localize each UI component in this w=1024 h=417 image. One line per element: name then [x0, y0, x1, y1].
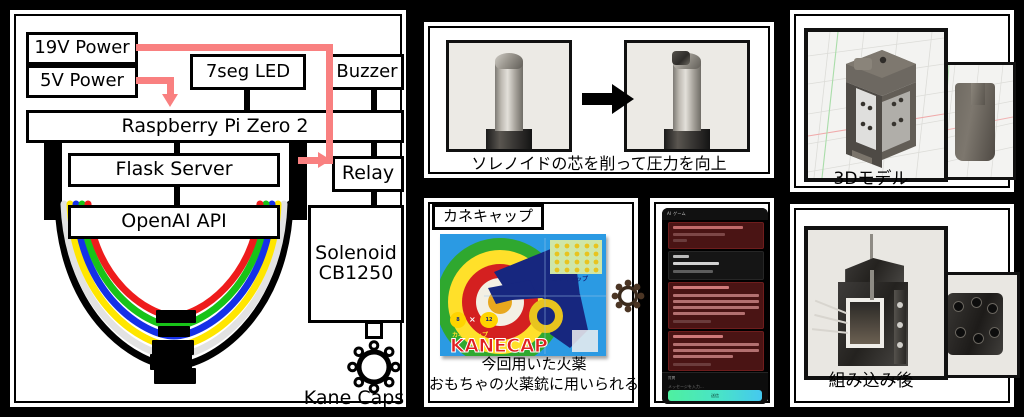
cad-cylinder-notch: [971, 83, 985, 105]
right-arrow-icon: [582, 84, 634, 114]
assembled-screw-2: [897, 322, 903, 328]
block-raspberry-pi[interactable]: Raspberry Pi Zero 2: [26, 110, 404, 143]
cad-inset-cylinder: [938, 62, 1016, 180]
kanecap-count-a: 8: [450, 312, 466, 328]
chat-input-label: 質問: [668, 376, 675, 381]
panel-block-diagram: 19V Power 5V Power 7seg LED Buzzer Raspb…: [6, 6, 410, 411]
revolver-hole-1: [953, 301, 964, 312]
figure-root: 19V Power 5V Power 7seg LED Buzzer Raspb…: [0, 0, 1024, 417]
power-arrow-to-relay: [318, 152, 331, 168]
panel-3d-model: 3Dモデル: [786, 6, 1018, 196]
block-19v-power[interactable]: 19V Power: [26, 32, 138, 65]
photo-assembled-solenoid: [804, 226, 948, 380]
power-line-19v-h: [136, 44, 333, 51]
assembled-caption: 組み込み後: [796, 372, 946, 391]
rod-shaft-before: [495, 63, 523, 131]
revolver-hole-2: [971, 297, 982, 308]
block-flask-server[interactable]: Flask Server: [68, 153, 280, 187]
rod-tip-ground-face: [672, 51, 690, 65]
chat-message-user-1: [668, 251, 764, 280]
kanecap-caption-line1: 今回用いた火薬: [430, 356, 638, 373]
chat-send-button-label: 送信: [668, 393, 762, 399]
assembled-inner-rod: [870, 270, 874, 300]
cad-main-frame: [804, 28, 948, 182]
photo-cap-ring: [610, 276, 646, 316]
block-relay[interactable]: Relay: [332, 156, 404, 192]
kanecap-count-times: ×: [469, 315, 476, 324]
wire-solenoid-to-caps: [365, 321, 383, 339]
kanecap-badge: カネキャップ: [432, 204, 544, 230]
power-arrow-to-rpi: [162, 94, 178, 107]
block-7seg-led[interactable]: 7seg LED: [190, 54, 306, 90]
block-buzzer[interactable]: Buzzer: [330, 54, 404, 90]
photo-solenoid-before: [446, 40, 572, 152]
kanecap-caps-grid-dots: [550, 240, 602, 274]
chat-send-button[interactable]: 送信: [668, 390, 762, 401]
block-5v-power[interactable]: 5V Power: [26, 65, 138, 98]
assembled-screw-3: [897, 342, 903, 348]
revolver-hole-5: [973, 333, 984, 344]
rod-shaft-after: [673, 63, 701, 131]
revolver-hole-4: [955, 327, 966, 338]
panel-chat-ui: AI ゲーム: [646, 194, 778, 411]
solenoid-line-1: Solenoid: [315, 244, 397, 264]
solenoid-modification-caption: ソレノイドの芯を削って圧力を向上: [434, 155, 764, 173]
kane-caps-label: Kane Caps: [298, 388, 410, 409]
panel-solenoid-modification: ソレノイドの芯を削って圧力を向上: [420, 18, 778, 182]
chat-header-title: AI ゲーム: [667, 211, 686, 217]
revolver-hole-3: [987, 303, 998, 314]
assembled-screw-1: [897, 302, 903, 308]
kanecap-brand-text: KANECAP: [450, 335, 547, 356]
revolver-hole-6: [989, 327, 1000, 338]
solenoid-line-2: CB1250: [319, 264, 394, 284]
kane-caps-icon: [340, 340, 408, 394]
kanecap-caption-line2: おもちゃの火薬銃に用いられる: [426, 376, 642, 393]
assembled-coil: [850, 302, 880, 344]
photo-revolver-cylinder: [936, 272, 1020, 378]
model3d-caption: 3Dモデル: [796, 170, 946, 189]
rod-base-before: [486, 129, 532, 149]
block-openai-api[interactable]: OpenAI API: [68, 205, 280, 239]
photo-solenoid-after: [624, 40, 750, 152]
chat-message-assistant-2: [668, 282, 764, 329]
cad-frame-part: [826, 42, 932, 170]
power-line-19v-v: [326, 44, 333, 164]
rod-base-after: [664, 129, 710, 149]
block-solenoid[interactable]: Solenoid CB1250: [308, 205, 404, 323]
chat-message-assistant-3: [668, 331, 764, 371]
chat-message-assistant-1: [668, 222, 764, 249]
kanecap-product-box: カネキャップ 8 × 12 カネキャップ KANECAP: [440, 234, 606, 356]
chat-phone-screen[interactable]: AI ゲーム: [662, 208, 768, 404]
rod-tip-before: [495, 53, 523, 69]
kanecap-count-b: 12: [480, 312, 498, 328]
panel-assembled: 組み込み後: [786, 200, 1018, 411]
panel-kanecap: カネキャップ: [420, 194, 642, 411]
kanecap-grid-label: カネキャップ: [552, 274, 588, 283]
